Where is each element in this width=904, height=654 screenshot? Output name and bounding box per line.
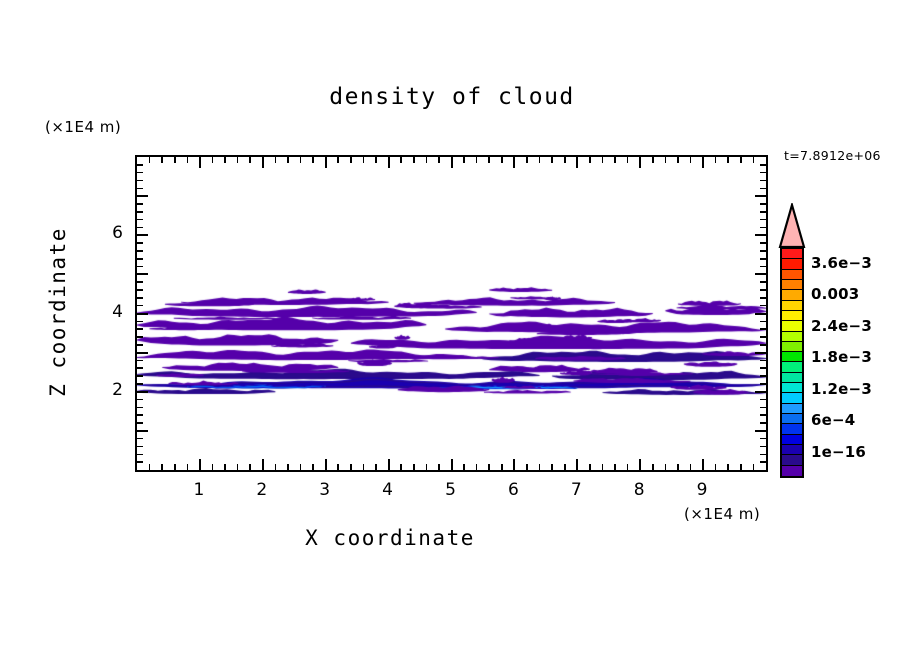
x-tick-top	[677, 157, 679, 163]
z-tick	[137, 328, 143, 330]
x-tick-top	[161, 157, 163, 163]
x-tick-top	[627, 157, 629, 163]
x-tick	[413, 464, 415, 470]
z-tick-right	[755, 391, 766, 393]
x-tick	[564, 464, 566, 470]
z-tick	[137, 250, 143, 252]
x-tick	[639, 459, 641, 470]
z-tick	[137, 352, 148, 354]
z-tick-right	[760, 305, 766, 307]
z-tick-right	[760, 367, 766, 369]
x-tick-label: 8	[619, 480, 659, 500]
x-tick	[224, 464, 226, 470]
x-tick	[740, 464, 742, 470]
colorbar-tick-label: 0.003	[811, 285, 859, 303]
x-tick	[287, 464, 289, 470]
x-tick	[652, 464, 654, 470]
z-tick-right	[755, 430, 766, 432]
x-tick-top	[589, 157, 591, 163]
x-axis-units-label: (×1E4 m)	[684, 505, 760, 523]
x-tick-label: 2	[242, 480, 282, 500]
x-tick	[199, 459, 201, 470]
x-tick-top	[237, 157, 239, 163]
colorbar-band	[782, 383, 802, 393]
x-tick-top	[388, 157, 390, 168]
x-tick	[727, 464, 729, 470]
x-tick-top	[312, 157, 314, 163]
x-tick-top	[639, 157, 641, 168]
colorbar-band	[782, 393, 802, 403]
colorbar-band	[782, 466, 802, 476]
x-tick-top	[438, 157, 440, 163]
x-tick-top	[224, 157, 226, 163]
z-tick	[137, 454, 143, 456]
x-tick-top	[753, 157, 755, 163]
x-tick-top	[350, 157, 352, 163]
z-tick	[137, 203, 143, 205]
z-tick-right	[760, 375, 766, 377]
z-tick	[137, 219, 143, 221]
x-tick	[539, 464, 541, 470]
z-tick	[137, 367, 143, 369]
x-tick-top	[287, 157, 289, 163]
colorbar-band	[782, 259, 802, 269]
x-tick	[438, 464, 440, 470]
time-annotation: t=7.8912e+06	[784, 148, 881, 163]
z-tick	[137, 321, 143, 323]
z-tick-right	[760, 164, 766, 166]
x-tick	[715, 464, 717, 470]
colorbar-tick-label: 3.6e−3	[811, 254, 872, 272]
x-tick	[526, 464, 528, 470]
x-tick	[212, 464, 214, 470]
colorbar[interactable]	[780, 247, 804, 478]
x-tick-label: 6	[493, 480, 533, 500]
x-tick	[753, 464, 755, 470]
x-tick-top	[476, 157, 478, 163]
x-tick	[551, 464, 553, 470]
x-tick-top	[275, 157, 277, 163]
z-tick-right	[760, 219, 766, 221]
colorbar-band	[782, 414, 802, 424]
x-tick	[426, 464, 428, 470]
z-tick	[137, 227, 143, 229]
x-tick	[665, 464, 667, 470]
colorbar-band	[782, 280, 802, 290]
x-tick-top	[262, 157, 264, 168]
x-tick	[161, 464, 163, 470]
z-tick	[137, 234, 148, 236]
x-tick	[627, 464, 629, 470]
x-tick	[589, 464, 591, 470]
z-tick	[137, 180, 143, 182]
z-tick	[137, 446, 143, 448]
x-tick-top	[526, 157, 528, 163]
x-tick-label: 4	[368, 480, 408, 500]
z-tick-right	[760, 227, 766, 229]
z-tick	[137, 399, 143, 401]
x-tick	[363, 464, 365, 470]
contour-field	[137, 157, 766, 470]
z-tick-right	[760, 180, 766, 182]
x-tick-top	[551, 157, 553, 163]
z-tick-label: 6	[89, 223, 123, 243]
z-tick	[137, 266, 143, 268]
z-tick	[137, 430, 148, 432]
x-tick-top	[363, 157, 365, 163]
y-axis-units-label: (×1E4 m)	[45, 118, 121, 136]
x-tick	[300, 464, 302, 470]
x-tick-top	[187, 157, 189, 163]
colorbar-band	[782, 290, 802, 300]
z-tick-right	[760, 250, 766, 252]
z-tick	[137, 289, 143, 291]
z-tick	[137, 391, 148, 393]
z-tick-right	[760, 446, 766, 448]
plot-area[interactable]	[135, 155, 768, 472]
x-tick-top	[652, 157, 654, 163]
x-tick	[262, 459, 264, 470]
colorbar-tick-label: 1.8e−3	[811, 348, 872, 366]
z-tick-right	[760, 407, 766, 409]
x-tick	[187, 464, 189, 470]
z-tick	[137, 273, 148, 275]
z-tick-right	[760, 360, 766, 362]
x-tick-top	[400, 157, 402, 163]
z-tick-right	[760, 321, 766, 323]
x-tick-top	[727, 157, 729, 163]
x-tick-top	[337, 157, 339, 163]
z-tick-right	[760, 211, 766, 213]
colorbar-band	[782, 311, 802, 321]
x-tick	[677, 464, 679, 470]
z-tick	[137, 461, 143, 463]
x-tick	[501, 464, 503, 470]
z-tick-right	[760, 289, 766, 291]
z-tick-right	[760, 461, 766, 463]
colorbar-band	[782, 424, 802, 434]
z-tick-right	[760, 203, 766, 205]
x-tick	[602, 464, 604, 470]
x-tick-top	[690, 157, 692, 163]
z-tick	[137, 297, 143, 299]
z-tick	[137, 188, 143, 190]
x-tick-top	[212, 157, 214, 163]
x-tick-top	[564, 157, 566, 163]
z-tick-right	[755, 234, 766, 236]
x-tick	[375, 464, 377, 470]
z-tick-right	[755, 195, 766, 197]
x-tick-top	[740, 157, 742, 163]
z-tick	[137, 360, 143, 362]
z-tick-right	[760, 344, 766, 346]
z-tick-right	[760, 258, 766, 260]
colorbar-band	[782, 445, 802, 455]
z-tick	[137, 281, 143, 283]
colorbar-band	[782, 435, 802, 445]
colorbar-band	[782, 455, 802, 465]
x-tick-label: 5	[431, 480, 471, 500]
x-tick	[476, 464, 478, 470]
colorbar-tick-label: 1e−16	[811, 443, 866, 461]
z-tick-right	[760, 297, 766, 299]
x-tick	[400, 464, 402, 470]
x-tick	[350, 464, 352, 470]
z-tick	[137, 438, 143, 440]
z-tick-right	[760, 414, 766, 416]
x-tick	[249, 464, 251, 470]
colorbar-band	[782, 332, 802, 342]
x-tick	[337, 464, 339, 470]
colorbar-band	[782, 404, 802, 414]
x-tick-top	[576, 157, 578, 168]
z-tick-right	[760, 422, 766, 424]
x-tick-top	[249, 157, 251, 163]
x-tick-top	[413, 157, 415, 163]
x-tick-label: 3	[305, 480, 345, 500]
colorbar-tick-label: 1.2e−3	[811, 380, 872, 398]
z-tick	[137, 195, 148, 197]
colorbar-band	[782, 301, 802, 311]
x-tick-top	[501, 157, 503, 163]
x-tick	[237, 464, 239, 470]
x-tick	[614, 464, 616, 470]
x-tick	[451, 459, 453, 470]
colorbar-overflow-arrow	[778, 203, 806, 248]
x-tick-label: 1	[179, 480, 219, 500]
x-tick	[702, 459, 704, 470]
x-tick	[463, 464, 465, 470]
page-title: density of cloud	[0, 84, 904, 110]
x-tick-top	[149, 157, 151, 163]
x-tick-top	[539, 157, 541, 163]
z-tick	[137, 375, 143, 377]
x-tick-top	[614, 157, 616, 163]
colorbar-band	[782, 373, 802, 383]
z-tick-right	[755, 273, 766, 275]
colorbar-band	[782, 342, 802, 352]
z-tick-right	[760, 438, 766, 440]
z-tick-right	[760, 281, 766, 283]
z-tick	[137, 336, 143, 338]
colorbar-band	[782, 362, 802, 372]
colorbar-band	[782, 352, 802, 362]
z-tick	[137, 407, 143, 409]
x-tick-top	[463, 157, 465, 163]
x-tick-top	[300, 157, 302, 163]
x-tick	[576, 459, 578, 470]
x-tick	[312, 464, 314, 470]
x-axis-title: X coordinate	[0, 526, 780, 550]
x-tick	[488, 464, 490, 470]
z-tick-right	[755, 313, 766, 315]
z-tick-right	[760, 242, 766, 244]
z-tick-right	[760, 188, 766, 190]
x-tick-label: 9	[682, 480, 722, 500]
z-tick-right	[760, 454, 766, 456]
x-tick-top	[325, 157, 327, 168]
z-tick-right	[760, 383, 766, 385]
z-tick-right	[760, 336, 766, 338]
x-tick	[275, 464, 277, 470]
x-tick-top	[488, 157, 490, 163]
z-tick-right	[760, 399, 766, 401]
y-axis-title: Z coordinate	[46, 192, 70, 432]
x-tick-top	[174, 157, 176, 163]
colorbar-band	[782, 249, 802, 259]
colorbar-tick-label: 6e−4	[811, 411, 855, 429]
z-tick	[137, 414, 143, 416]
colorbar-band	[782, 270, 802, 280]
x-tick	[690, 464, 692, 470]
x-tick-top	[513, 157, 515, 168]
z-tick	[137, 242, 143, 244]
x-tick	[174, 464, 176, 470]
x-tick	[513, 459, 515, 470]
colorbar-band	[782, 321, 802, 331]
z-tick	[137, 422, 143, 424]
z-tick-right	[755, 352, 766, 354]
x-tick-top	[426, 157, 428, 163]
x-tick-top	[715, 157, 717, 163]
z-tick-right	[760, 172, 766, 174]
z-tick	[137, 211, 143, 213]
x-tick	[149, 464, 151, 470]
z-tick-right	[760, 328, 766, 330]
x-tick-top	[602, 157, 604, 163]
x-tick-top	[665, 157, 667, 163]
z-tick	[137, 164, 143, 166]
x-tick	[388, 459, 390, 470]
x-tick-top	[451, 157, 453, 168]
z-tick-label: 4	[89, 302, 123, 322]
z-tick-label: 2	[89, 380, 123, 400]
z-tick	[137, 172, 143, 174]
x-tick-top	[199, 157, 201, 168]
z-tick	[137, 258, 143, 260]
x-tick-top	[702, 157, 704, 168]
z-tick	[137, 344, 143, 346]
z-tick	[137, 383, 143, 385]
z-tick	[137, 313, 148, 315]
z-tick	[137, 305, 143, 307]
x-tick-label: 7	[556, 480, 596, 500]
colorbar-tick-label: 2.4e−3	[811, 317, 872, 335]
z-tick-right	[760, 266, 766, 268]
x-tick-top	[375, 157, 377, 163]
x-tick	[325, 459, 327, 470]
